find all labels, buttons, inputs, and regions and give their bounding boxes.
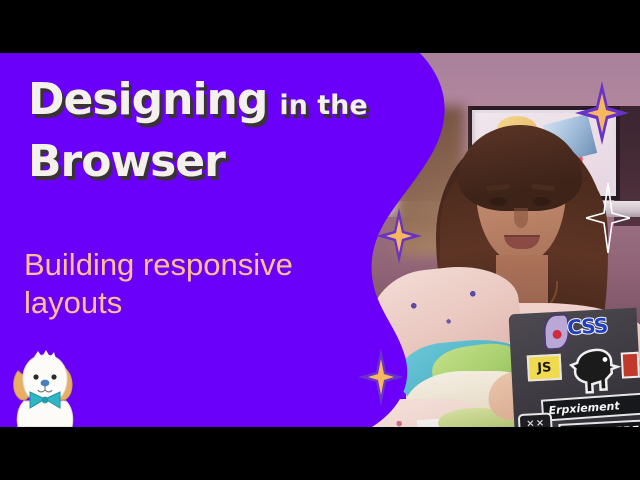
eye-right xyxy=(533,197,551,206)
red-sticker xyxy=(621,352,640,379)
dog-mascot-logo xyxy=(4,349,86,427)
centered-sticker: CENTERED xyxy=(558,419,640,427)
video-frame: CSS JS Erpxiement CENTERED xyxy=(0,53,640,427)
js-sticker: JS xyxy=(527,354,562,382)
title-block: Designingin the Browser xyxy=(28,77,368,185)
letterbox-bottom xyxy=(0,427,640,480)
hair-top xyxy=(458,125,582,211)
letterbox-top xyxy=(0,0,640,53)
title-main-word: Designing xyxy=(28,74,267,125)
t-rex-sticker xyxy=(566,345,623,398)
video-subtitle: Building responsive layouts xyxy=(24,246,364,322)
eye-left xyxy=(489,197,507,206)
laptop-with-stickers: CSS JS Erpxiement CENTERED xyxy=(509,308,640,427)
title-line-2: Browser xyxy=(28,139,368,185)
video-thumbnail: CSS JS Erpxiement CENTERED xyxy=(0,0,640,480)
nose xyxy=(514,208,528,228)
css-sticker: CSS xyxy=(567,313,608,339)
erpxiement-sticker: Erpxiement xyxy=(541,393,640,422)
s3-sticker-dot xyxy=(552,330,561,339)
title-small-words: in the xyxy=(279,90,367,121)
title-line-1: Designingin the xyxy=(28,77,368,123)
game-controller-sticker xyxy=(518,412,553,427)
